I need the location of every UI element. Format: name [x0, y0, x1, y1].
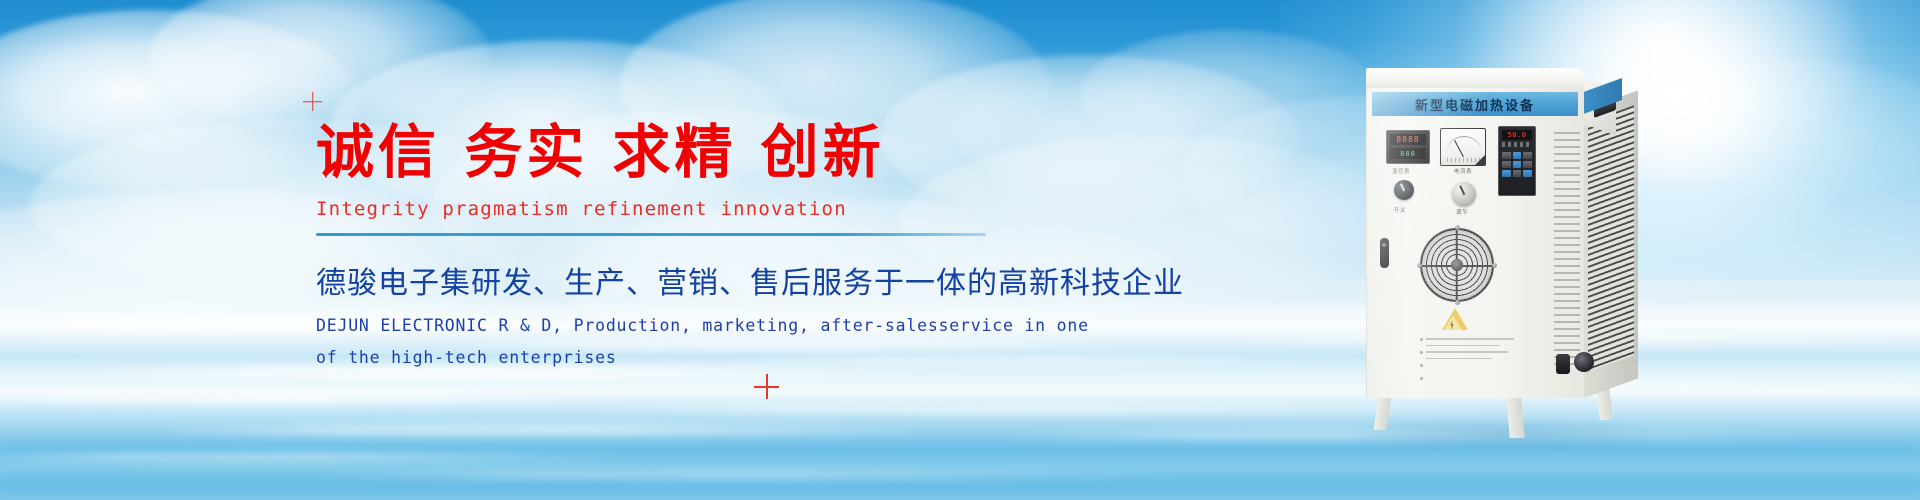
warning-bullet [1420, 364, 1423, 367]
machine-leg [1373, 396, 1391, 430]
keypad-button[interactable] [1513, 161, 1522, 168]
fan-screw [1492, 263, 1497, 268]
keypad-button[interactable] [1502, 152, 1511, 159]
analog-ammeter [1440, 128, 1486, 166]
fan-hub [1451, 259, 1463, 271]
power-switch-label: 开关 [1394, 206, 1406, 214]
warning-bullet [1420, 377, 1423, 380]
fan-screw [1417, 263, 1422, 268]
adjust-knob[interactable] [1452, 182, 1476, 206]
fan-screw [1455, 300, 1460, 305]
machine-leg [1506, 398, 1524, 438]
keypad-button[interactable] [1502, 170, 1511, 177]
machine-indicator-slot [1380, 238, 1389, 268]
keypad-button[interactable] [1513, 170, 1522, 177]
water-wave [300, 470, 1200, 480]
banner-copy: 诚信 务实 求精 创新 Integrity pragmatism refinem… [316, 100, 1216, 374]
warning-bullet [1420, 338, 1423, 341]
machine-front-edge-louvers [1554, 132, 1580, 368]
fan-screw [1455, 225, 1460, 230]
keypad-legend [1502, 142, 1532, 147]
warning-text-line [1426, 351, 1508, 353]
keypad-button[interactable] [1523, 152, 1532, 159]
water-wave [140, 424, 960, 436]
warning-text-block [1426, 338, 1514, 364]
tagline-english-line-1: DEJUN ELECTRONIC R & D, Production, mark… [316, 310, 1216, 342]
meter-arc [1446, 136, 1482, 154]
tagline-english-line-2: of the high-tech enterprises [316, 342, 1216, 374]
controller-setpoint-value: 8888 [1390, 134, 1426, 145]
machine-nameplate-label: 新型电磁加热设备 [1415, 95, 1535, 114]
warning-bullet [1420, 351, 1423, 354]
divider-rule [316, 233, 986, 236]
tagline-chinese: 德骏电子集研发、生产、营销、售后服务于一体的高新科技企业 [316, 258, 1216, 302]
machine-top-panel [1366, 68, 1584, 90]
keypad-button[interactable] [1502, 161, 1511, 168]
controller-label: 温控表 [1392, 167, 1410, 175]
headline-chinese: 诚信 务实 求精 创新 [316, 120, 1216, 185]
warning-text-line [1426, 358, 1492, 360]
keypad-button-grid[interactable] [1502, 152, 1532, 177]
machine-cable-socket [1574, 352, 1594, 372]
keypad-button[interactable] [1513, 152, 1522, 159]
warning-text-line [1426, 345, 1500, 347]
keypad-button[interactable] [1523, 161, 1532, 168]
machine-connector-port [1556, 354, 1570, 374]
warning-text-line [1426, 338, 1514, 340]
ammeter-label: 电流表 [1454, 167, 1472, 175]
keypad-display-value: 50.0 [1502, 130, 1532, 140]
power-switch-knob[interactable] [1394, 180, 1414, 200]
machine-side-louvers [1588, 105, 1634, 372]
keypad-button[interactable] [1523, 170, 1532, 177]
product-machine: 新型电磁加热设备 8888 888 温控表 电流表 50.0 [1358, 68, 1658, 440]
adjust-knob-label: 调节 [1456, 208, 1468, 216]
promo-banner: 诚信 务实 求精 创新 Integrity pragmatism refinem… [0, 0, 1920, 500]
meter-corner [1475, 155, 1485, 165]
warning-triangle-inner [1444, 315, 1462, 330]
keypad-control-module[interactable]: 50.0 [1498, 126, 1536, 196]
machine-nameplate: 新型电磁加热设备 [1372, 92, 1578, 116]
headline-english: Integrity pragmatism refinement innovati… [316, 198, 1216, 220]
cooling-fan-grille [1420, 228, 1494, 302]
temperature-controller-display[interactable]: 8888 888 [1386, 130, 1430, 164]
controller-process-value: 888 [1390, 148, 1426, 159]
